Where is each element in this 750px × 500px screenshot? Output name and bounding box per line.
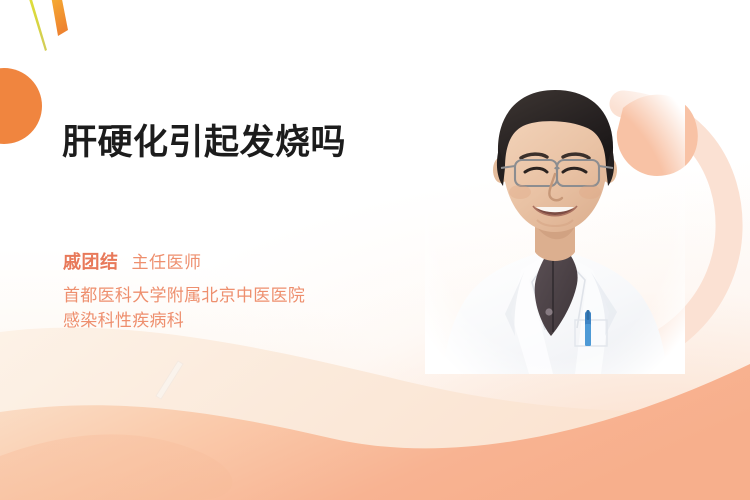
doctor-title: 主任医师: [132, 248, 202, 273]
faint-diagonal-mark: [150, 358, 190, 402]
doctor-info-card: 肝硬化引起发烧吗 戚团结 主任医师 首都医科大学附属北京中医医院 感染科性疾病科: [0, 0, 750, 500]
page-title: 肝硬化引起发烧吗: [62, 121, 346, 165]
doctor-name: 戚团结: [63, 248, 119, 274]
doctor-name-row: 戚团结 主任医师: [63, 248, 423, 274]
doctor-department: 感染科性疾病科: [63, 308, 423, 333]
doctor-info-block: 戚团结 主任医师 首都医科大学附属北京中医医院 感染科性疾病科: [63, 248, 423, 333]
doctor-hospital: 首都医科大学附属北京中医医院: [63, 283, 423, 308]
doctor-portrait: [425, 74, 685, 374]
yellow-diagonal-line: [25, 0, 47, 51]
top-left-stripes: [18, 0, 98, 60]
orange-diagonal-stripe: [49, 0, 68, 36]
